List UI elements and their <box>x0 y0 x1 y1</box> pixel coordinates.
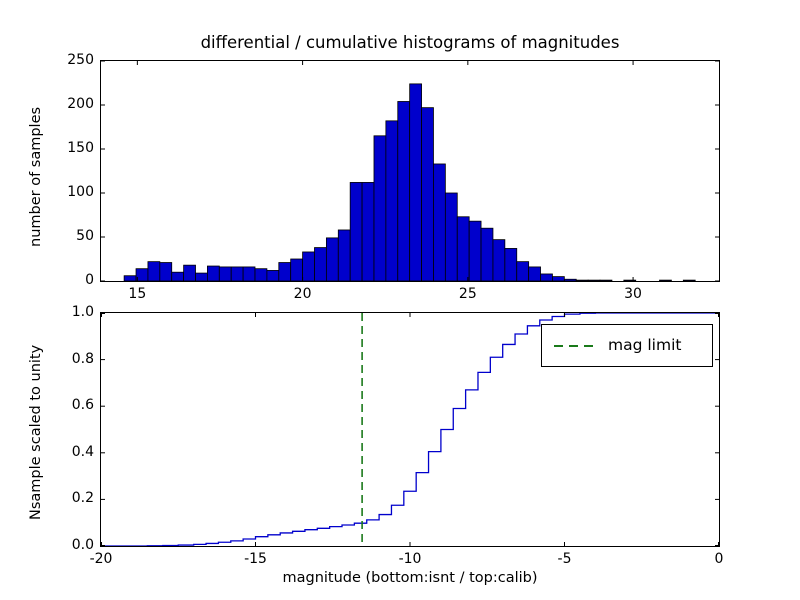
bottom-y-axis-label: Nsample scaled to unity <box>28 345 44 520</box>
bottom-xtick--10: -10 <box>380 551 440 567</box>
top-ytick-0: 0 <box>54 272 94 288</box>
bottom-ytick-1: 1.0 <box>54 304 94 320</box>
top-ytick-250: 250 <box>54 52 94 68</box>
x-axis-label: magnitude (bottom:isnt / top:calib) <box>100 570 720 586</box>
bottom-ytick-0_2: 0.2 <box>54 490 94 506</box>
top-histogram-axes <box>100 60 720 282</box>
bottom-xtick--20: -20 <box>71 551 131 567</box>
bottom-xtick--5: -5 <box>535 551 595 567</box>
top-ytick-200: 200 <box>54 96 94 112</box>
bottom-ytick-0_4: 0.4 <box>54 444 94 460</box>
legend-label-mag-limit: mag limit <box>608 336 681 354</box>
figure-canvas: differential / cumulative histograms of … <box>0 0 800 600</box>
top-xtick-30: 30 <box>603 286 663 302</box>
top-xtick-20: 20 <box>273 286 333 302</box>
legend[interactable]: mag limit <box>541 324 713 367</box>
bottom-xtick-0: 0 <box>689 551 749 567</box>
bottom-ytick-0_6: 0.6 <box>54 397 94 413</box>
top-histogram-plot <box>101 61 719 281</box>
top-y-axis-label: number of samples <box>28 107 44 247</box>
top-xtick-15: 15 <box>107 286 167 302</box>
top-ytick-50: 50 <box>54 228 94 244</box>
top-xtick-25: 25 <box>438 286 498 302</box>
chart-title: differential / cumulative histograms of … <box>100 33 720 52</box>
bottom-ytick-0: 0.0 <box>54 537 94 553</box>
legend-line-sample <box>550 325 602 366</box>
top-ytick-150: 150 <box>54 140 94 156</box>
bottom-ytick-0_8: 0.8 <box>54 351 94 367</box>
top-ytick-100: 100 <box>54 184 94 200</box>
bottom-xtick--15: -15 <box>226 551 286 567</box>
